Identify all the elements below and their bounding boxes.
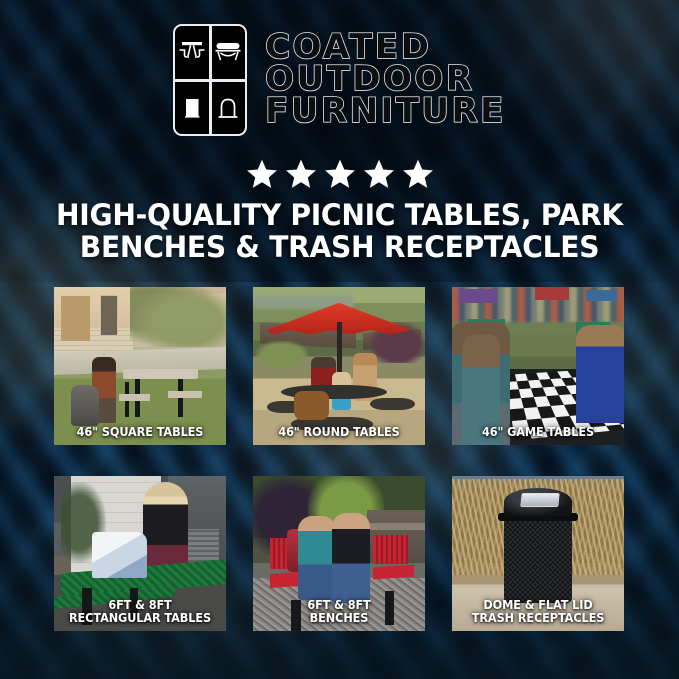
- product-caption: 6FT & 8FT BENCHES: [260, 599, 418, 625]
- star-icon: [402, 158, 434, 190]
- product-photo-game-tables: [452, 287, 624, 445]
- brand-header: COATED OUTDOOR FURNITURE: [0, 24, 679, 136]
- star-icon: [324, 158, 356, 190]
- product-photo-round-tables: [253, 287, 425, 445]
- brand-line-3: FURNITURE: [265, 96, 506, 128]
- star-icon: [246, 158, 278, 190]
- product-caption: DOME & FLAT LID TRASH RECEPTACLES: [459, 599, 617, 625]
- product-category-grid: 46" SQUARE TABLES 46" ROUND TABLES: [54, 287, 625, 631]
- product-card-trash-receptacles[interactable]: DOME & FLAT LID TRASH RECEPTACLES: [452, 476, 624, 631]
- headline-line-1: HIGH-QUALITY PICNIC TABLES, PARK: [42, 200, 637, 232]
- picnic-table-icon: [175, 26, 209, 79]
- product-card-rectangular-tables[interactable]: 6FT & 8FT RECTANGULAR TABLES: [54, 476, 226, 631]
- star-rating: [0, 158, 679, 190]
- product-card-benches[interactable]: 6FT & 8FT BENCHES: [253, 476, 425, 631]
- trash-receptacle-icon: [175, 82, 209, 135]
- product-card-square-tables[interactable]: 46" SQUARE TABLES: [54, 287, 226, 445]
- product-caption: 46" ROUND TABLES: [260, 426, 418, 439]
- caption-line-2: TRASH RECEPTACLES: [459, 612, 617, 625]
- product-caption: 46" GAME TABLES: [459, 426, 617, 439]
- caption-line-1: 46" ROUND TABLES: [260, 426, 418, 439]
- product-photo-square-tables: [54, 287, 226, 445]
- star-icon: [363, 158, 395, 190]
- caption-line-2: BENCHES: [260, 612, 418, 625]
- headline-line-2: BENCHES & TRASH RECEPTACLES: [42, 232, 637, 264]
- caption-line-2: RECTANGULAR TABLES: [61, 612, 219, 625]
- product-card-game-tables[interactable]: 46" GAME TABLES: [452, 287, 624, 445]
- brand-logo-mark: [173, 24, 247, 136]
- park-bench-icon: [212, 26, 246, 79]
- bike-rack-arch-icon: [212, 82, 246, 135]
- product-caption: 46" SQUARE TABLES: [61, 426, 219, 439]
- page-headline: HIGH-QUALITY PICNIC TABLES, PARK BENCHES…: [42, 200, 637, 263]
- product-caption: 6FT & 8FT RECTANGULAR TABLES: [61, 599, 219, 625]
- product-card-round-tables[interactable]: 46" ROUND TABLES: [253, 287, 425, 445]
- brand-wordmark: COATED OUTDOOR FURNITURE: [265, 32, 506, 128]
- caption-line-1: 46" GAME TABLES: [459, 426, 617, 439]
- star-icon: [285, 158, 317, 190]
- caption-line-1: 46" SQUARE TABLES: [61, 426, 219, 439]
